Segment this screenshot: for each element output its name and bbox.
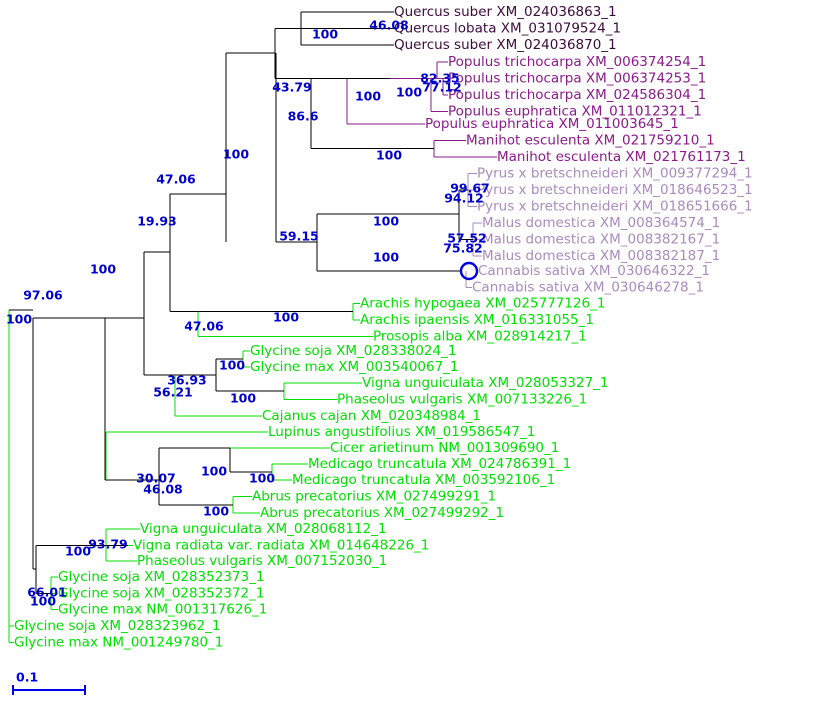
branch-support-value: 47.06 xyxy=(184,319,224,334)
leaf-label[interactable]: Populus trichocarpa XM_024586304_1 xyxy=(448,87,706,103)
leaf-label[interactable]: Medicago truncatula XM_003592106_1 xyxy=(292,472,555,488)
leaf-label[interactable]: Glycine soja XM_028338024_1 xyxy=(250,343,456,359)
branch-support-value: 43.79 xyxy=(272,80,312,95)
tree-leaf-labels: Quercus suber XM_024036863_1Quercus loba… xyxy=(14,4,753,651)
branch-support-value: 100 xyxy=(230,391,256,406)
leaf-label[interactable]: Medicago truncatula XM_024786391_1 xyxy=(308,456,571,472)
branch-support-value: 100 xyxy=(30,594,56,609)
leaf-label[interactable]: Populus euphratica XM_011003645_1 xyxy=(425,116,679,132)
branch-support-value: 46.08 xyxy=(369,18,409,33)
branch-support-value: 100 xyxy=(90,262,116,277)
branch-support-value: 100 xyxy=(373,214,399,229)
branch-support-value: 100 xyxy=(65,544,91,559)
branch-support-value: 46.08 xyxy=(143,482,183,497)
leaf-label[interactable]: Malus domestica XM_008364574_1 xyxy=(482,215,720,231)
leaf-label[interactable]: Glycine soja XM_028352372_1 xyxy=(58,586,264,602)
leaf-label[interactable]: Populus trichocarpa XM_006374253_1 xyxy=(448,71,706,87)
leaf-label[interactable]: Phaseolus vulgaris XM_007133226_1 xyxy=(337,392,587,408)
branch-support-value: 100 xyxy=(376,148,402,163)
leaf-label[interactable]: Vigna unguiculata XM_028068112_1 xyxy=(140,521,387,537)
leaf-label[interactable]: Manihot esculenta XM_021761173_1 xyxy=(497,149,746,165)
leaf-label[interactable]: Cajanus cajan XM_020348984_1 xyxy=(262,408,481,424)
leaf-label[interactable]: Glycine soja XM_028323962_1 xyxy=(14,618,220,634)
branch-support-value: 100 xyxy=(355,89,381,104)
branch-support-value: 100 xyxy=(223,147,249,162)
branch-support-value: 97.06 xyxy=(23,288,63,303)
branch-support-value: 100 xyxy=(219,358,245,373)
leaf-label[interactable]: Vigna unguiculata XM_028053327_1 xyxy=(362,375,609,391)
collapsed-node-marker[interactable] xyxy=(461,263,477,279)
branch-support-value: 56.21 xyxy=(153,385,193,400)
branch-support-value: 100 xyxy=(249,471,275,486)
scale-bar-label: 0.1 xyxy=(16,670,38,685)
leaf-label[interactable]: Manihot esculenta XM_021759210_1 xyxy=(466,133,715,149)
scale-bar-group: 0.1 xyxy=(13,670,85,696)
leaf-label[interactable]: Quercus suber XM_024036870_1 xyxy=(394,37,617,53)
leaf-label[interactable]: Abrus precatorius XM_027499291_1 xyxy=(252,489,496,505)
leaf-label[interactable]: Quercus lobata XM_031079524_1 xyxy=(394,21,621,37)
leaf-label[interactable]: Malus domestica XM_008382187_1 xyxy=(482,248,720,264)
tree-node-markers xyxy=(461,263,477,279)
branch-support-value: 100 xyxy=(273,310,299,325)
branch-support-value: 100 xyxy=(201,464,227,479)
branch-support-value: 77.12 xyxy=(422,80,462,95)
branch-support-value: 100 xyxy=(373,250,399,265)
phylogenetic-tree-figure: Quercus suber XM_024036863_1Quercus loba… xyxy=(0,0,814,708)
scale-bar xyxy=(13,685,85,695)
tree-canvas: Quercus suber XM_024036863_1Quercus loba… xyxy=(0,0,814,708)
branch-support-value: 59.15 xyxy=(279,229,319,244)
leaf-label[interactable]: Malus domestica XM_008382167_1 xyxy=(482,232,720,248)
leaf-label[interactable]: Pyrus x bretschneideri XM_009377294_1 xyxy=(477,166,753,182)
leaf-label[interactable]: Cannabis sativa XM_030646278_1 xyxy=(472,280,704,296)
leaf-label[interactable]: Glycine max NM_001317626_1 xyxy=(58,602,267,618)
leaf-label[interactable]: Phaseolus vulgaris XM_007152030_1 xyxy=(137,553,387,569)
branch-support-value: 100 xyxy=(6,312,32,327)
leaf-label[interactable]: Lupinus angustifolius XM_019586547_1 xyxy=(268,424,535,440)
leaf-label[interactable]: Arachis hypogaea XM_025777126_1 xyxy=(360,296,606,312)
branch-support-value: 94.12 xyxy=(444,191,484,206)
leaf-label[interactable]: Glycine soja XM_028352373_1 xyxy=(58,569,264,585)
leaf-label[interactable]: Cannabis sativa XM_030646322_1 xyxy=(478,263,710,279)
branch-support-value: 86.6 xyxy=(288,109,319,124)
branch-support-value: 93.79 xyxy=(88,537,128,552)
leaf-label[interactable]: Quercus suber XM_024036863_1 xyxy=(394,4,617,20)
branch-support-value: 100 xyxy=(396,85,422,100)
leaf-label[interactable]: Pyrus x bretschneideri XM_018646523_1 xyxy=(477,182,753,198)
leaf-label[interactable]: Glycine max XM_003540067_1 xyxy=(250,359,459,375)
branch-support-value: 75.82 xyxy=(443,241,483,256)
leaf-label[interactable]: Arachis ipaensis XM_016331055_1 xyxy=(360,312,594,328)
leaf-label[interactable]: Populus trichocarpa XM_006374254_1 xyxy=(448,54,706,70)
branch-support-value: 47.06 xyxy=(156,172,196,187)
leaf-label[interactable]: Abrus precatorius XM_027499292_1 xyxy=(260,505,504,521)
branch-support-value: 100 xyxy=(312,27,338,42)
leaf-label[interactable]: Glycine max NM_001249780_1 xyxy=(14,635,223,651)
branch-support-value: 19.93 xyxy=(137,214,177,229)
leaf-label[interactable]: Vigna radiata var. radiata XM_014648226_… xyxy=(133,538,429,554)
branch-support-value: 100 xyxy=(203,504,229,519)
leaf-label[interactable]: Pyrus x bretschneideri XM_018651666_1 xyxy=(477,199,753,215)
leaf-label[interactable]: Cicer arietinum NM_001309690_1 xyxy=(330,440,559,456)
